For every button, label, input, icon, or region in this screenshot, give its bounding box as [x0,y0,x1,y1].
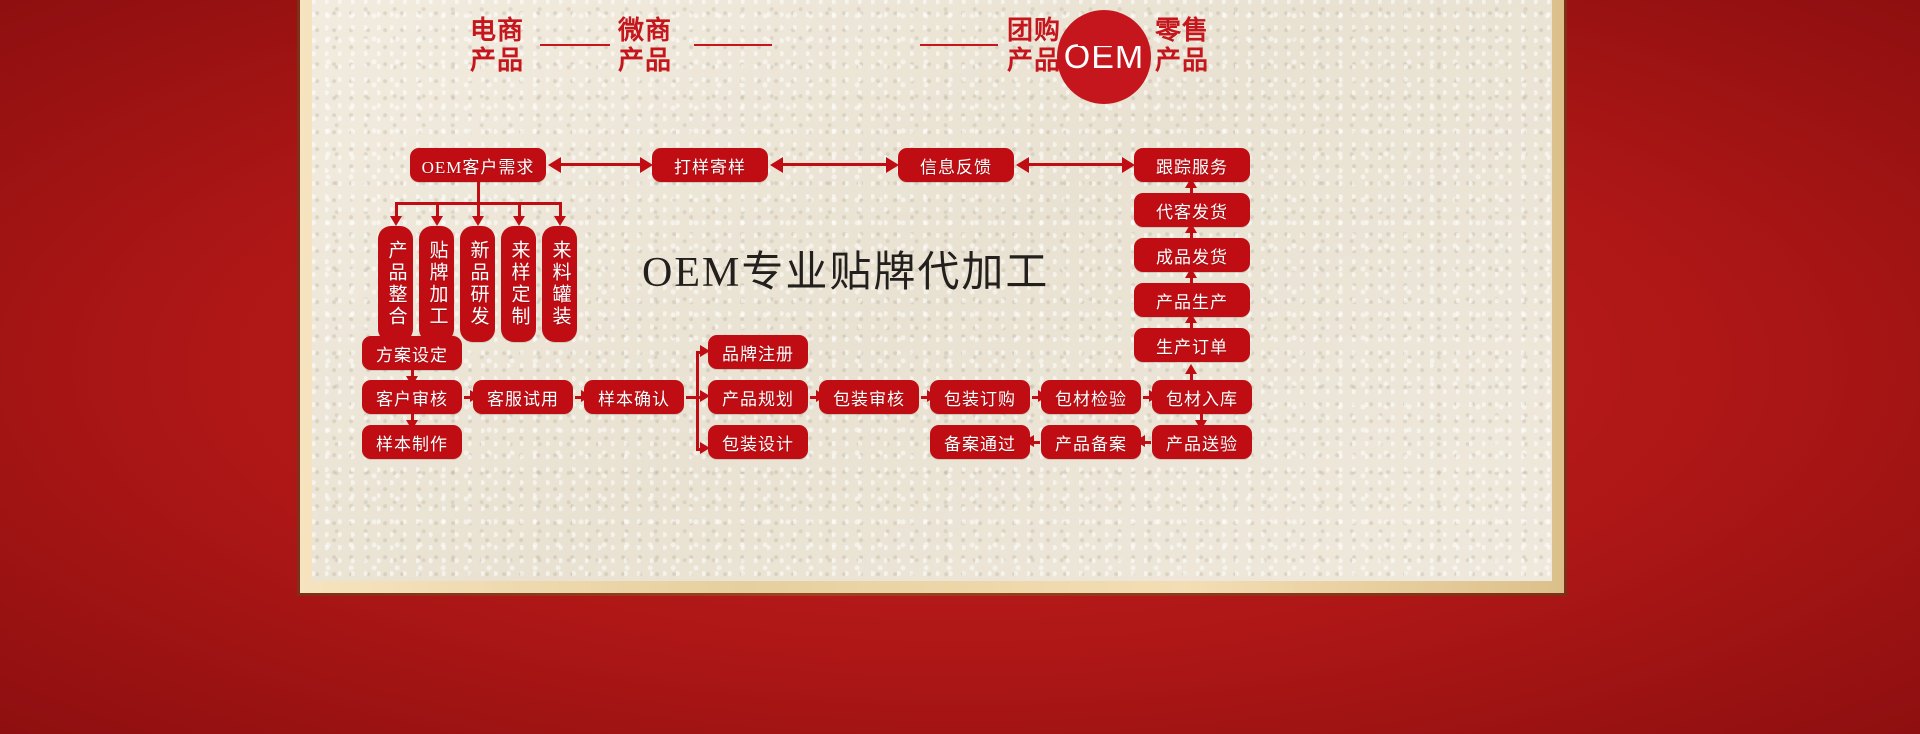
node-sample-customization[interactable]: 来样定制 [501,226,536,342]
page-title: OEM专业贴牌代加工 [642,238,1042,299]
node-material-filling[interactable]: 来料罐装 [542,226,577,342]
poster-canvas: 电商 产品 微商 产品 OEM 团购 产品 [0,0,1920,734]
node-finished-shipping-label: 成品发货 [1156,243,1228,268]
node-tracking-service-label: 跟踪服务 [1156,153,1228,178]
rc-arrow-3 [1185,223,1197,233]
fanout-arrow-1 [390,216,402,226]
decorative-frame: 电商 产品 微商 产品 OEM 团购 产品 [297,0,1567,596]
node-oem-demand[interactable]: OEM客户需求 [410,148,546,182]
node-package-warehouse[interactable]: 包材入库 [1152,380,1252,414]
fanout-arrow-4 [513,216,525,226]
rc-arrow-4 [1185,178,1197,188]
node-product-production[interactable]: 产品生产 [1134,283,1250,317]
rc-arrow-2 [1185,268,1197,278]
connector-line-3 [920,44,998,46]
node-product-planning[interactable]: 产品规划 [708,380,808,414]
channel-groupbuy: 团购 产品 [1004,16,1064,76]
node-package-warehouse-label: 包材入库 [1166,385,1238,410]
node-brand-registration[interactable]: 品牌注册 [708,335,808,369]
node-proxy-shipping[interactable]: 代客发货 [1134,193,1250,227]
node-package-inspect[interactable]: 包材检验 [1041,380,1141,414]
node-tracking-service[interactable]: 跟踪服务 [1134,148,1250,182]
node-package-design-label: 包装设计 [722,430,794,455]
connector-line-2 [694,44,772,46]
channel-wechat-line1: 微商 [615,16,675,46]
node-customer-review-label: 客户审核 [376,385,448,410]
channel-retail-line1: 零售 [1152,16,1212,46]
node-product-testing[interactable]: 产品送验 [1152,425,1252,459]
node-package-review-label: 包装审核 [833,385,905,410]
channel-wechat-line2: 产品 [615,46,675,76]
arrow-sampling-feedback [782,163,886,166]
channel-retail-line2: 产品 [1152,46,1212,76]
node-sampling[interactable]: 打样寄样 [652,148,768,182]
node-proxy-shipping-label: 代客发货 [1156,198,1228,223]
channel-groupbuy-line2: 产品 [1004,46,1064,76]
node-plan-setting[interactable]: 方案设定 [362,336,462,370]
connector-line-4 [1078,44,1148,46]
content-panel: 电商 产品 微商 产品 OEM 团购 产品 [312,0,1552,581]
arrow-feedback-tracking-head-right [1122,157,1135,173]
node-product-integration[interactable]: 产品整合 [378,226,413,342]
arrow-demand-sampling-head-right [640,157,653,173]
node-sample-confirm[interactable]: 样本确认 [584,380,684,414]
node-brand-registration-label: 品牌注册 [722,340,794,365]
node-new-product-rd-label: 新品研发 [465,240,491,328]
arrow-demand-sampling-head-left [548,157,561,173]
arrow-sampling-feedback-head-right [886,157,899,173]
node-finished-shipping[interactable]: 成品发货 [1134,238,1250,272]
channel-wechat: 微商 产品 [615,16,675,76]
node-customer-service-trial[interactable]: 客服试用 [473,380,573,414]
gold-inlay-border: 电商 产品 微商 产品 OEM 团购 产品 [300,0,1564,593]
node-production-order[interactable]: 生产订单 [1134,328,1250,362]
node-production-order-label: 生产订单 [1156,333,1228,358]
node-package-inspect-label: 包材检验 [1055,385,1127,410]
node-plan-setting-label: 方案设定 [376,341,448,366]
channel-ecommerce: 电商 产品 [467,16,527,76]
node-oem-processing-label: 贴牌加工 [424,240,450,328]
node-package-design[interactable]: 包装设计 [708,425,808,459]
node-sample-making-label: 样本制作 [376,430,448,455]
node-product-record[interactable]: 产品备案 [1041,425,1141,459]
rc-arrow-1 [1185,313,1197,323]
arrow-feedback-tracking-head-left [1016,157,1029,173]
channel-ecommerce-line2: 产品 [467,46,527,76]
node-sample-customization-label: 来样定制 [506,240,532,328]
fanout-stem [477,182,480,204]
node-feedback[interactable]: 信息反馈 [898,148,1014,182]
node-oem-processing[interactable]: 贴牌加工 [419,226,454,342]
node-package-review[interactable]: 包装审核 [819,380,919,414]
node-product-production-label: 产品生产 [1156,288,1228,313]
node-new-product-rd[interactable]: 新品研发 [460,226,495,342]
node-product-record-label: 产品备案 [1055,430,1127,455]
node-product-planning-label: 产品规划 [722,385,794,410]
oem-badge: OEM [1057,10,1151,104]
fanout-arrow-2 [431,216,443,226]
node-product-integration-label: 产品整合 [383,240,409,328]
channel-retail: 零售 产品 [1152,16,1212,76]
node-material-filling-label: 来料罐装 [547,240,573,328]
arrow-sampling-feedback-head-left [770,157,783,173]
channel-ecommerce-line1: 电商 [467,16,527,46]
connector-line-1 [540,44,610,46]
node-product-testing-label: 产品送验 [1166,430,1238,455]
split-bus [696,351,699,451]
rc-arrow-0 [1185,364,1197,374]
fanout-arrow-3 [472,216,484,226]
node-record-passed[interactable]: 备案通过 [930,425,1030,459]
node-package-order[interactable]: 包装订购 [930,380,1030,414]
channel-groupbuy-line1: 团购 [1004,16,1064,46]
fanout-arrow-5 [554,216,566,226]
node-sample-confirm-label: 样本确认 [598,385,670,410]
node-customer-review[interactable]: 客户审核 [362,380,462,414]
node-customer-service-trial-label: 客服试用 [487,385,559,410]
node-record-passed-label: 备案通过 [944,430,1016,455]
arrow-feedback-tracking [1028,163,1122,166]
arrow-demand-sampling [560,163,640,166]
node-sampling-label: 打样寄样 [674,153,746,178]
node-package-order-label: 包装订购 [944,385,1016,410]
node-oem-demand-label: OEM客户需求 [422,153,535,178]
node-sample-making[interactable]: 样本制作 [362,425,462,459]
node-feedback-label: 信息反馈 [920,153,992,178]
channel-header: 电商 产品 微商 产品 OEM 团购 产品 [312,0,1552,136]
